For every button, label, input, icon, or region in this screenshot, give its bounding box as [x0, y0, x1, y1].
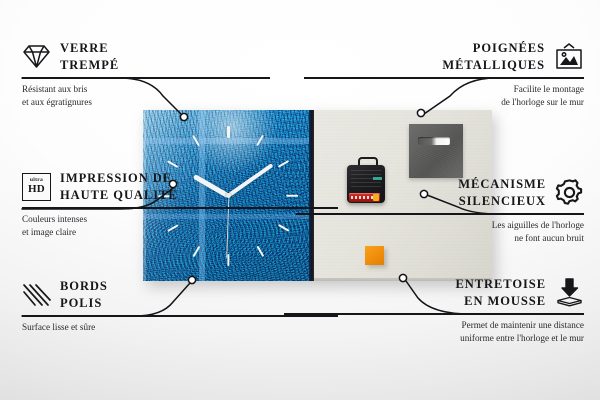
callout-title-line1: VERRE — [60, 40, 119, 57]
foam-spacer-icon — [555, 278, 584, 307]
callout-desc-line2: et image claire — [22, 226, 338, 239]
callout-title-line1: MÉCANISME — [458, 176, 546, 193]
callout-title: ENTRETOISE EN MOUSSE — [455, 276, 546, 309]
callout-title-line2: POLIS — [60, 295, 108, 312]
callout-desc-line2: ne font aucun bruit — [296, 232, 584, 245]
callout-title-line1: ENTRETOISE — [455, 276, 546, 293]
callout-desc-line2: uniforme entre l'horloge et le mur — [284, 332, 584, 345]
callout-rule — [304, 77, 584, 79]
callout-description: Permet de maintenir une distance uniform… — [284, 319, 584, 345]
callout-header: MÉCANISME SILENCIEUX — [296, 176, 584, 209]
callout-desc-line1: Permet de maintenir une distance — [284, 319, 584, 332]
callout-title-line2: SILENCIEUX — [458, 193, 546, 210]
callout-poignees-metalliques: POIGNÉES MÉTALLIQUES Facilite le montage… — [304, 40, 584, 109]
callout-description: Les aiguilles de l'horloge ne font aucun… — [296, 219, 584, 245]
polished-edges-icon — [22, 282, 51, 307]
picture-hanger-icon — [554, 43, 584, 70]
callout-desc-line1: Résistant aux bris — [22, 83, 270, 96]
hour-marker — [227, 254, 229, 266]
callout-header: VERRE TREMPÉ — [22, 40, 270, 73]
callout-title: IMPRESSION DE HAUTE QUALITÉ — [60, 170, 178, 203]
callout-mecanisme-silencieux: MÉCANISME SILENCIEUX Les aiguilles de l'… — [296, 176, 584, 245]
ultra-hd-icon-bottom-text: HD — [28, 184, 45, 195]
callout-title-line2: HAUTE QUALITÉ — [60, 187, 178, 204]
gear-icon — [555, 178, 584, 207]
callout-rule — [22, 77, 270, 79]
callout-title: POIGNÉES MÉTALLIQUES — [442, 40, 545, 73]
callout-title: MÉCANISME SILENCIEUX — [458, 176, 546, 209]
callout-desc-line1: Facilite le montage — [304, 83, 584, 96]
foam-spacer — [365, 246, 384, 265]
callout-desc-line1: Les aiguilles de l'horloge — [296, 219, 584, 232]
ultra-hd-icon: ultra HD — [22, 173, 51, 201]
callout-rule — [296, 213, 584, 215]
callout-title: VERRE TREMPÉ — [60, 40, 119, 73]
hanger-texture — [409, 124, 463, 178]
callout-header: POIGNÉES MÉTALLIQUES — [304, 40, 584, 73]
callout-title: BORDS POLIS — [60, 278, 108, 311]
callout-title-line1: POIGNÉES — [442, 40, 545, 57]
callout-title-line2: MÉTALLIQUES — [442, 57, 545, 74]
callout-header: ENTRETOISE EN MOUSSE — [284, 276, 584, 309]
callout-title-line1: BORDS — [60, 278, 108, 295]
callout-desc-line2: de l'horloge sur le mur — [304, 96, 584, 109]
callout-entretoise-en-mousse: ENTRETOISE EN MOUSSE Permet de maintenir… — [284, 276, 584, 345]
metal-hanger-plate — [409, 124, 463, 178]
callout-title-line2: EN MOUSSE — [455, 293, 546, 310]
callout-desc-line2: et aux égratignures — [22, 96, 270, 109]
callout-verre-trempe: VERRE TREMPÉ Résistant aux bris et aux é… — [22, 40, 270, 109]
callout-description: Facilite le montage de l'horloge sur le … — [304, 83, 584, 109]
callout-title-line1: IMPRESSION DE — [60, 170, 178, 187]
callout-description: Résistant aux bris et aux égratignures — [22, 83, 270, 109]
hanger-slot — [418, 137, 450, 145]
callout-rule — [284, 313, 584, 315]
callout-impression-haute-qualite: ultra HD IMPRESSION DE HAUTE QUALITÉ Cou… — [22, 170, 338, 239]
callout-header: ultra HD IMPRESSION DE HAUTE QUALITÉ — [22, 170, 338, 203]
infographic-canvas: VERRE TREMPÉ Résistant aux bris et aux é… — [0, 0, 600, 400]
callout-description: Couleurs intenses et image claire — [22, 213, 338, 239]
callout-desc-line1: Couleurs intenses — [22, 213, 338, 226]
callout-title-line2: TREMPÉ — [60, 57, 119, 74]
callout-rule — [22, 207, 338, 209]
diamond-icon — [22, 44, 51, 69]
